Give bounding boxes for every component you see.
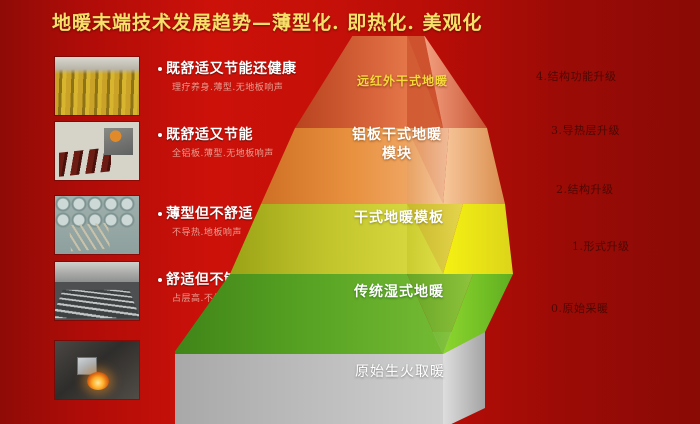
pyramid-label-base: 原始生火取暖: [330, 361, 470, 381]
photo-open-fire-image: [55, 341, 139, 399]
photo-yellow-pipes: [55, 57, 139, 115]
page-title: 地暖末端技术发展趋势—薄型化. 即热化. 美观化: [52, 8, 482, 35]
photo-wood-planks: [55, 122, 139, 180]
pyramid-label-aluminum-line2: 模块: [332, 145, 462, 164]
photo-wet-coils-image: [55, 262, 139, 320]
photo-tile-panel: [55, 196, 139, 254]
pyramid-label-wet: 传统湿式地暖: [334, 281, 464, 301]
photo-wet-coils: [55, 262, 139, 320]
pyramid-label-aluminum-line1: 铝板干式地暖: [332, 126, 462, 145]
pyramid-label-aluminum: 铝板干式地暖 模块: [332, 126, 462, 164]
bullet-dot-icon: [158, 133, 162, 137]
photo-open-fire: [55, 341, 139, 399]
bullet-dot-icon: [158, 67, 162, 71]
bullet-dot-icon: [158, 212, 162, 216]
pyramid-label-apex: 远红外干式地暖: [357, 72, 448, 89]
bullet-dot-icon: [158, 278, 162, 282]
photo-yellow-pipes-image: [55, 57, 139, 115]
pyramid-label-dry: 干式地暖模板: [334, 207, 464, 227]
photo-tile-panel-image: [55, 196, 139, 254]
photo-open-fire-box: [77, 357, 97, 375]
slide-canvas: 地暖末端技术发展趋势—薄型化. 即热化. 美观化 既舒适又节能还健康 理疗养身.…: [0, 0, 700, 424]
photo-wood-planks-image: [55, 122, 139, 180]
